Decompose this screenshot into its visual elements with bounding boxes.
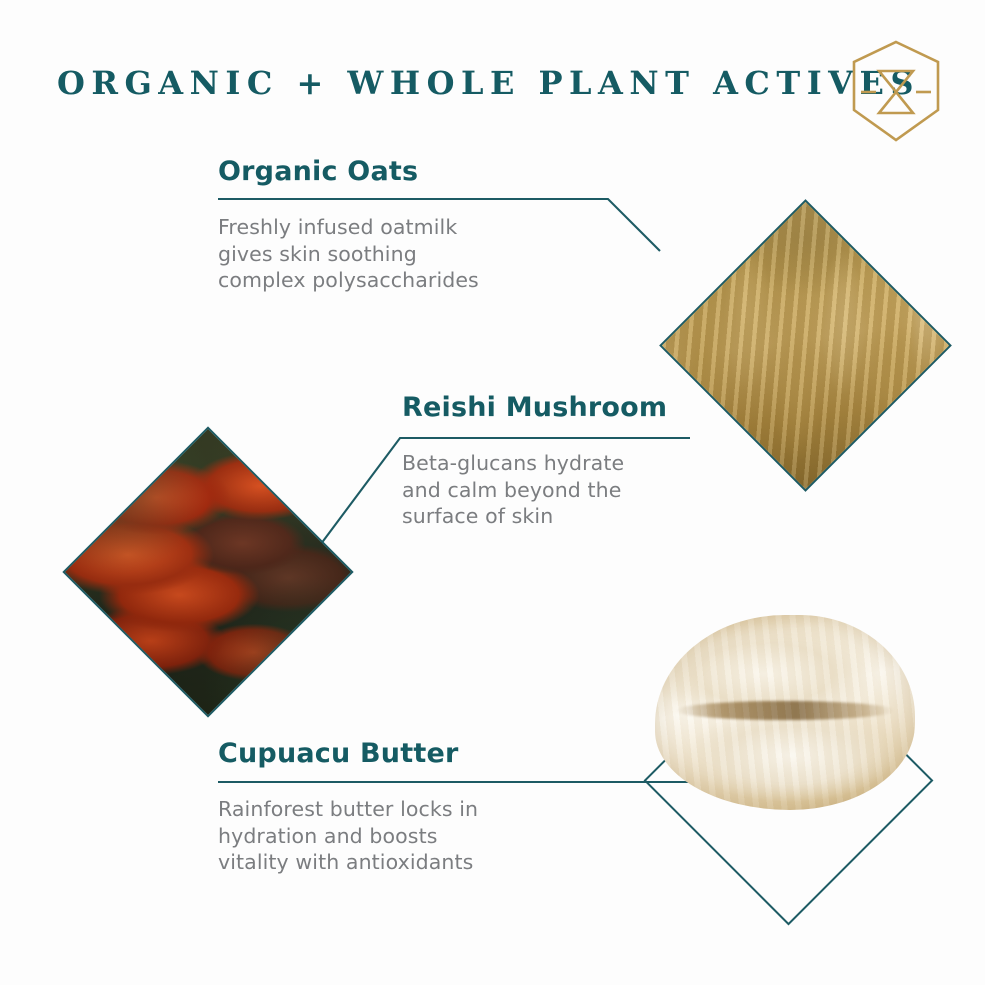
ingredient-body-cupuacu: Rainforest butter locks in hydration and… (218, 796, 478, 875)
ingredient-heading-oats: Organic Oats (218, 158, 479, 186)
oats-diamond-image (659, 199, 952, 492)
ingredient-block-oats: Organic Oats Freshly infused oatmilk giv… (218, 158, 479, 293)
oats-photo (661, 201, 949, 489)
ingredient-heading-reishi: Reishi Mushroom (402, 394, 667, 422)
cupuacu-photo (655, 615, 915, 810)
ingredient-body-reishi: Beta-glucans hydrate and calm beyond the… (402, 450, 667, 529)
infographic-page: ORGANIC + WHOLE PLANT ACTIVES Organic Oa… (0, 0, 985, 985)
ingredient-heading-cupuacu: Cupuacu Butter (218, 740, 478, 768)
reishi-diamond-image (62, 426, 353, 717)
ingredient-body-oats: Freshly infused oatmilk gives skin sooth… (218, 214, 479, 293)
reishi-photo (65, 429, 352, 716)
ingredient-block-cupuacu: Cupuacu Butter Rainforest butter locks i… (218, 740, 478, 875)
brand-hexagon-hourglass-logo (848, 38, 944, 144)
page-title: ORGANIC + WHOLE PLANT ACTIVES (57, 64, 920, 102)
ingredient-block-reishi: Reishi Mushroom Beta-glucans hydrate and… (402, 394, 667, 529)
